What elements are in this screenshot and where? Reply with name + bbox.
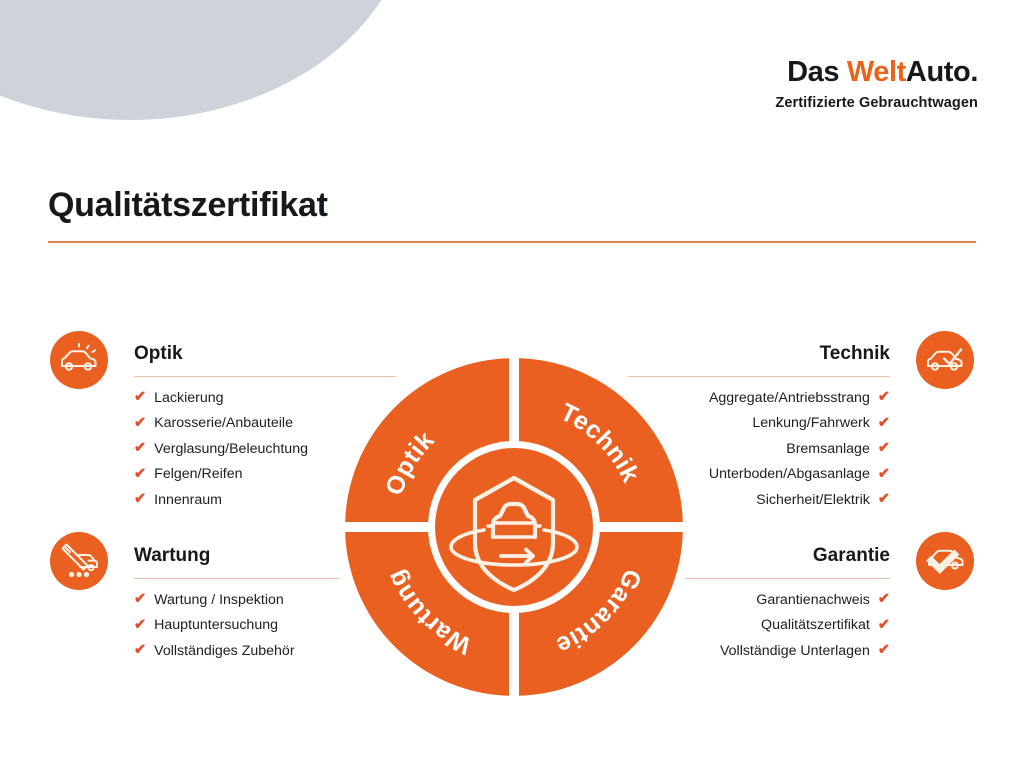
- check-icon: ✔: [134, 467, 146, 482]
- section-optik-divider: [134, 376, 396, 378]
- section-garantie-list: ✔Garantienachweis✔Qualitätszertifikat✔Vo…: [685, 592, 890, 669]
- brand-logo-subtitle: Zertifizierte Gebrauchtwagen: [775, 96, 978, 111]
- section-wartung-divider: [134, 578, 339, 580]
- section-garantie: Garantie ✔Garantienachweis✔Qualitätszert…: [685, 546, 890, 669]
- section-technik-divider: [628, 376, 890, 378]
- car-shine-icon: [50, 331, 108, 389]
- section-wartung-heading: Wartung: [134, 546, 339, 567]
- check-icon: ✔: [134, 416, 146, 431]
- checklist-item: ✔Hauptuntersuchung: [134, 618, 339, 644]
- check-icon: ✔: [878, 390, 890, 405]
- checklist-item-label: Unterboden/Abgasanlage: [709, 467, 870, 481]
- check-icon: ✔: [878, 416, 890, 431]
- checklist-item-label: Verglasung/Beleuchtung: [154, 442, 308, 456]
- checklist-item: ✔Wartung / Inspektion: [134, 592, 339, 618]
- checklist-item-label: Innenraum: [154, 493, 222, 507]
- checklist-item-label: Bremsanlage: [786, 442, 870, 456]
- section-wartung: Wartung ✔Wartung / Inspektion✔Hauptunter…: [134, 546, 339, 669]
- section-optik-list: ✔Lackierung✔Karosserie/Anbauteile✔Vergla…: [134, 390, 396, 518]
- checklist-item-label: Hauptuntersuchung: [154, 618, 278, 632]
- check-icon: ✔: [134, 390, 146, 405]
- car-check-icon: [916, 331, 974, 389]
- check-icon: ✔: [878, 467, 890, 482]
- check-icon: ✔: [878, 492, 890, 507]
- logo-text-welt: Welt: [847, 56, 906, 88]
- checklist-item-label: Vollständige Unterlagen: [720, 644, 870, 658]
- check-icon: ✔: [134, 441, 146, 456]
- check-icon: ✔: [878, 643, 890, 658]
- section-optik: Optik ✔Lackierung✔Karosserie/Anbauteile✔…: [134, 344, 396, 518]
- checklist-item: ✔Qualitätszertifikat: [685, 618, 890, 644]
- car-bigcheck-icon: [916, 532, 974, 590]
- checklist-item: ✔Lenkung/Fahrwerk: [628, 416, 890, 442]
- checklist-item: ✔Felgen/Reifen: [134, 467, 396, 493]
- brand-logo-wordmark: Das WeltAuto.: [775, 58, 978, 87]
- check-icon: ✔: [878, 592, 890, 607]
- checklist-item: ✔Aggregate/Antriebsstrang: [628, 390, 890, 416]
- checklist-item-label: Sicherheit/Elektrik: [756, 493, 870, 507]
- brand-logo: Das WeltAuto. Zertifizierte Gebrauchtwag…: [775, 58, 978, 111]
- checklist-item: ✔Unterboden/Abgasanlage: [628, 467, 890, 493]
- check-icon: ✔: [878, 618, 890, 633]
- certificate-page: Das WeltAuto. Zertifizierte Gebrauchtwag…: [0, 0, 1024, 768]
- checklist-item: ✔Bremsanlage: [628, 441, 890, 467]
- logo-text-auto: Auto.: [906, 56, 978, 88]
- check-icon: ✔: [134, 592, 146, 607]
- checklist-item: ✔Garantienachweis: [685, 592, 890, 618]
- checklist-item: ✔Lackierung: [134, 390, 396, 416]
- title-divider: [48, 241, 976, 243]
- checklist-item-label: Garantienachweis: [756, 593, 870, 607]
- checklist-item-label: Lackierung: [154, 391, 223, 405]
- checklist-item: ✔Vollständige Unterlagen: [685, 643, 890, 669]
- checklist-item: ✔Verglasung/Beleuchtung: [134, 441, 396, 467]
- checklist-item-label: Qualitätszertifikat: [761, 618, 870, 632]
- section-technik: Technik ✔Aggregate/Antriebsstrang✔Lenkun…: [628, 344, 890, 518]
- checklist-item-label: Vollständiges Zubehör: [154, 644, 294, 658]
- section-garantie-divider: [685, 578, 890, 580]
- car-pencil-icon: [50, 532, 108, 590]
- section-technik-list: ✔Aggregate/Antriebsstrang✔Lenkung/Fahrwe…: [628, 390, 890, 518]
- check-icon: ✔: [878, 441, 890, 456]
- check-icon: ✔: [134, 643, 146, 658]
- checklist-item-label: Karosserie/Anbauteile: [154, 416, 293, 430]
- wheel-center-disc: [435, 448, 593, 606]
- section-technik-heading: Technik: [628, 344, 890, 365]
- checklist-item-label: Lenkung/Fahrwerk: [752, 416, 870, 430]
- section-wartung-list: ✔Wartung / Inspektion✔Hauptuntersuchung✔…: [134, 592, 339, 669]
- section-garantie-heading: Garantie: [685, 546, 890, 567]
- checklist-item: ✔Innenraum: [134, 492, 396, 518]
- checklist-item-label: Felgen/Reifen: [154, 467, 242, 481]
- section-optik-heading: Optik: [134, 344, 396, 365]
- page-title: Qualitätszertifikat: [48, 186, 328, 225]
- checklist-item-label: Aggregate/Antriebsstrang: [709, 391, 870, 405]
- checklist-item: ✔Karosserie/Anbauteile: [134, 416, 396, 442]
- checklist-item: ✔Vollständiges Zubehör: [134, 643, 339, 669]
- check-icon: ✔: [134, 492, 146, 507]
- logo-text-das: Das: [787, 56, 847, 88]
- checklist-item-label: Wartung / Inspektion: [154, 593, 284, 607]
- check-icon: ✔: [134, 618, 146, 633]
- checklist-item: ✔Sicherheit/Elektrik: [628, 492, 890, 518]
- decorative-corner-shape: [0, 0, 410, 120]
